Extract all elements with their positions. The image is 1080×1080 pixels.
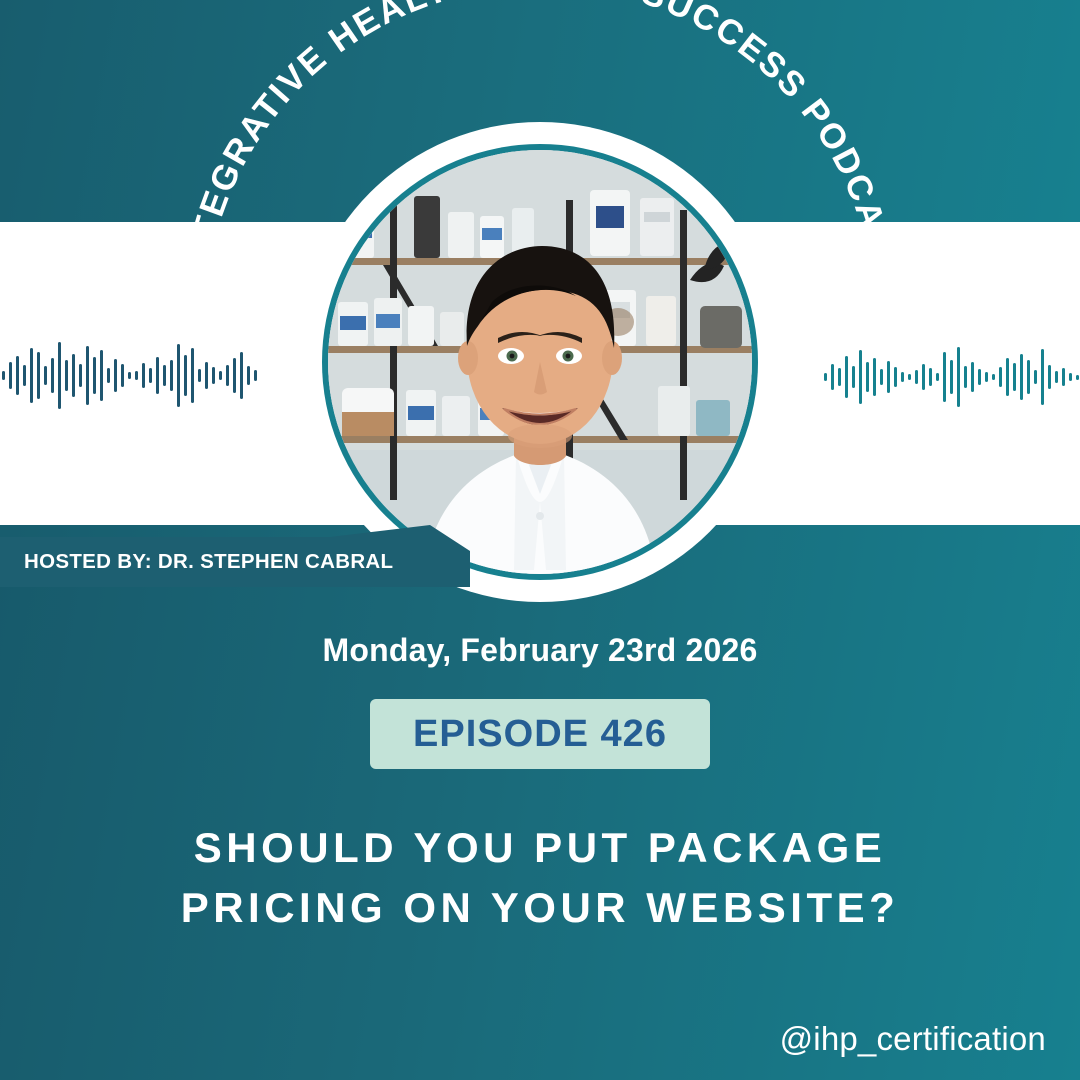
podcast-title-text: INTEGRATIVE HEALTH COACH SUCCESS PODCAST (177, 0, 903, 281)
podcast-episode-graphic: INTEGRATIVE HEALTH COACH SUCCESS PODCAST… (0, 0, 1080, 1080)
episode-date: Monday, February 23rd 2026 (0, 632, 1080, 669)
hosted-by-label: HOSTED BY: DR. STEPHEN CABRAL (24, 550, 393, 574)
episode-title-line-2: PRICING ON YOUR WEBSITE? (60, 878, 1020, 938)
social-handle: @ihp_certification (780, 1020, 1046, 1058)
episode-number-label: EPISODE 426 (413, 713, 667, 756)
episode-title-line-1: SHOULD YOU PUT PACKAGE (60, 818, 1020, 878)
hosted-by-banner: HOSTED BY: DR. STEPHEN CABRAL (0, 525, 470, 587)
audio-waveform-icon (822, 342, 1080, 412)
audio-waveform-icon (0, 338, 262, 413)
status-badge: EPISODE 426 (370, 699, 710, 769)
lower-background (0, 525, 1080, 1080)
podcast-title-arc: INTEGRATIVE HEALTH COACH SUCCESS PODCAST (0, 0, 1080, 340)
page-title: SHOULD YOU PUT PACKAGE PRICING ON YOUR W… (60, 818, 1020, 938)
